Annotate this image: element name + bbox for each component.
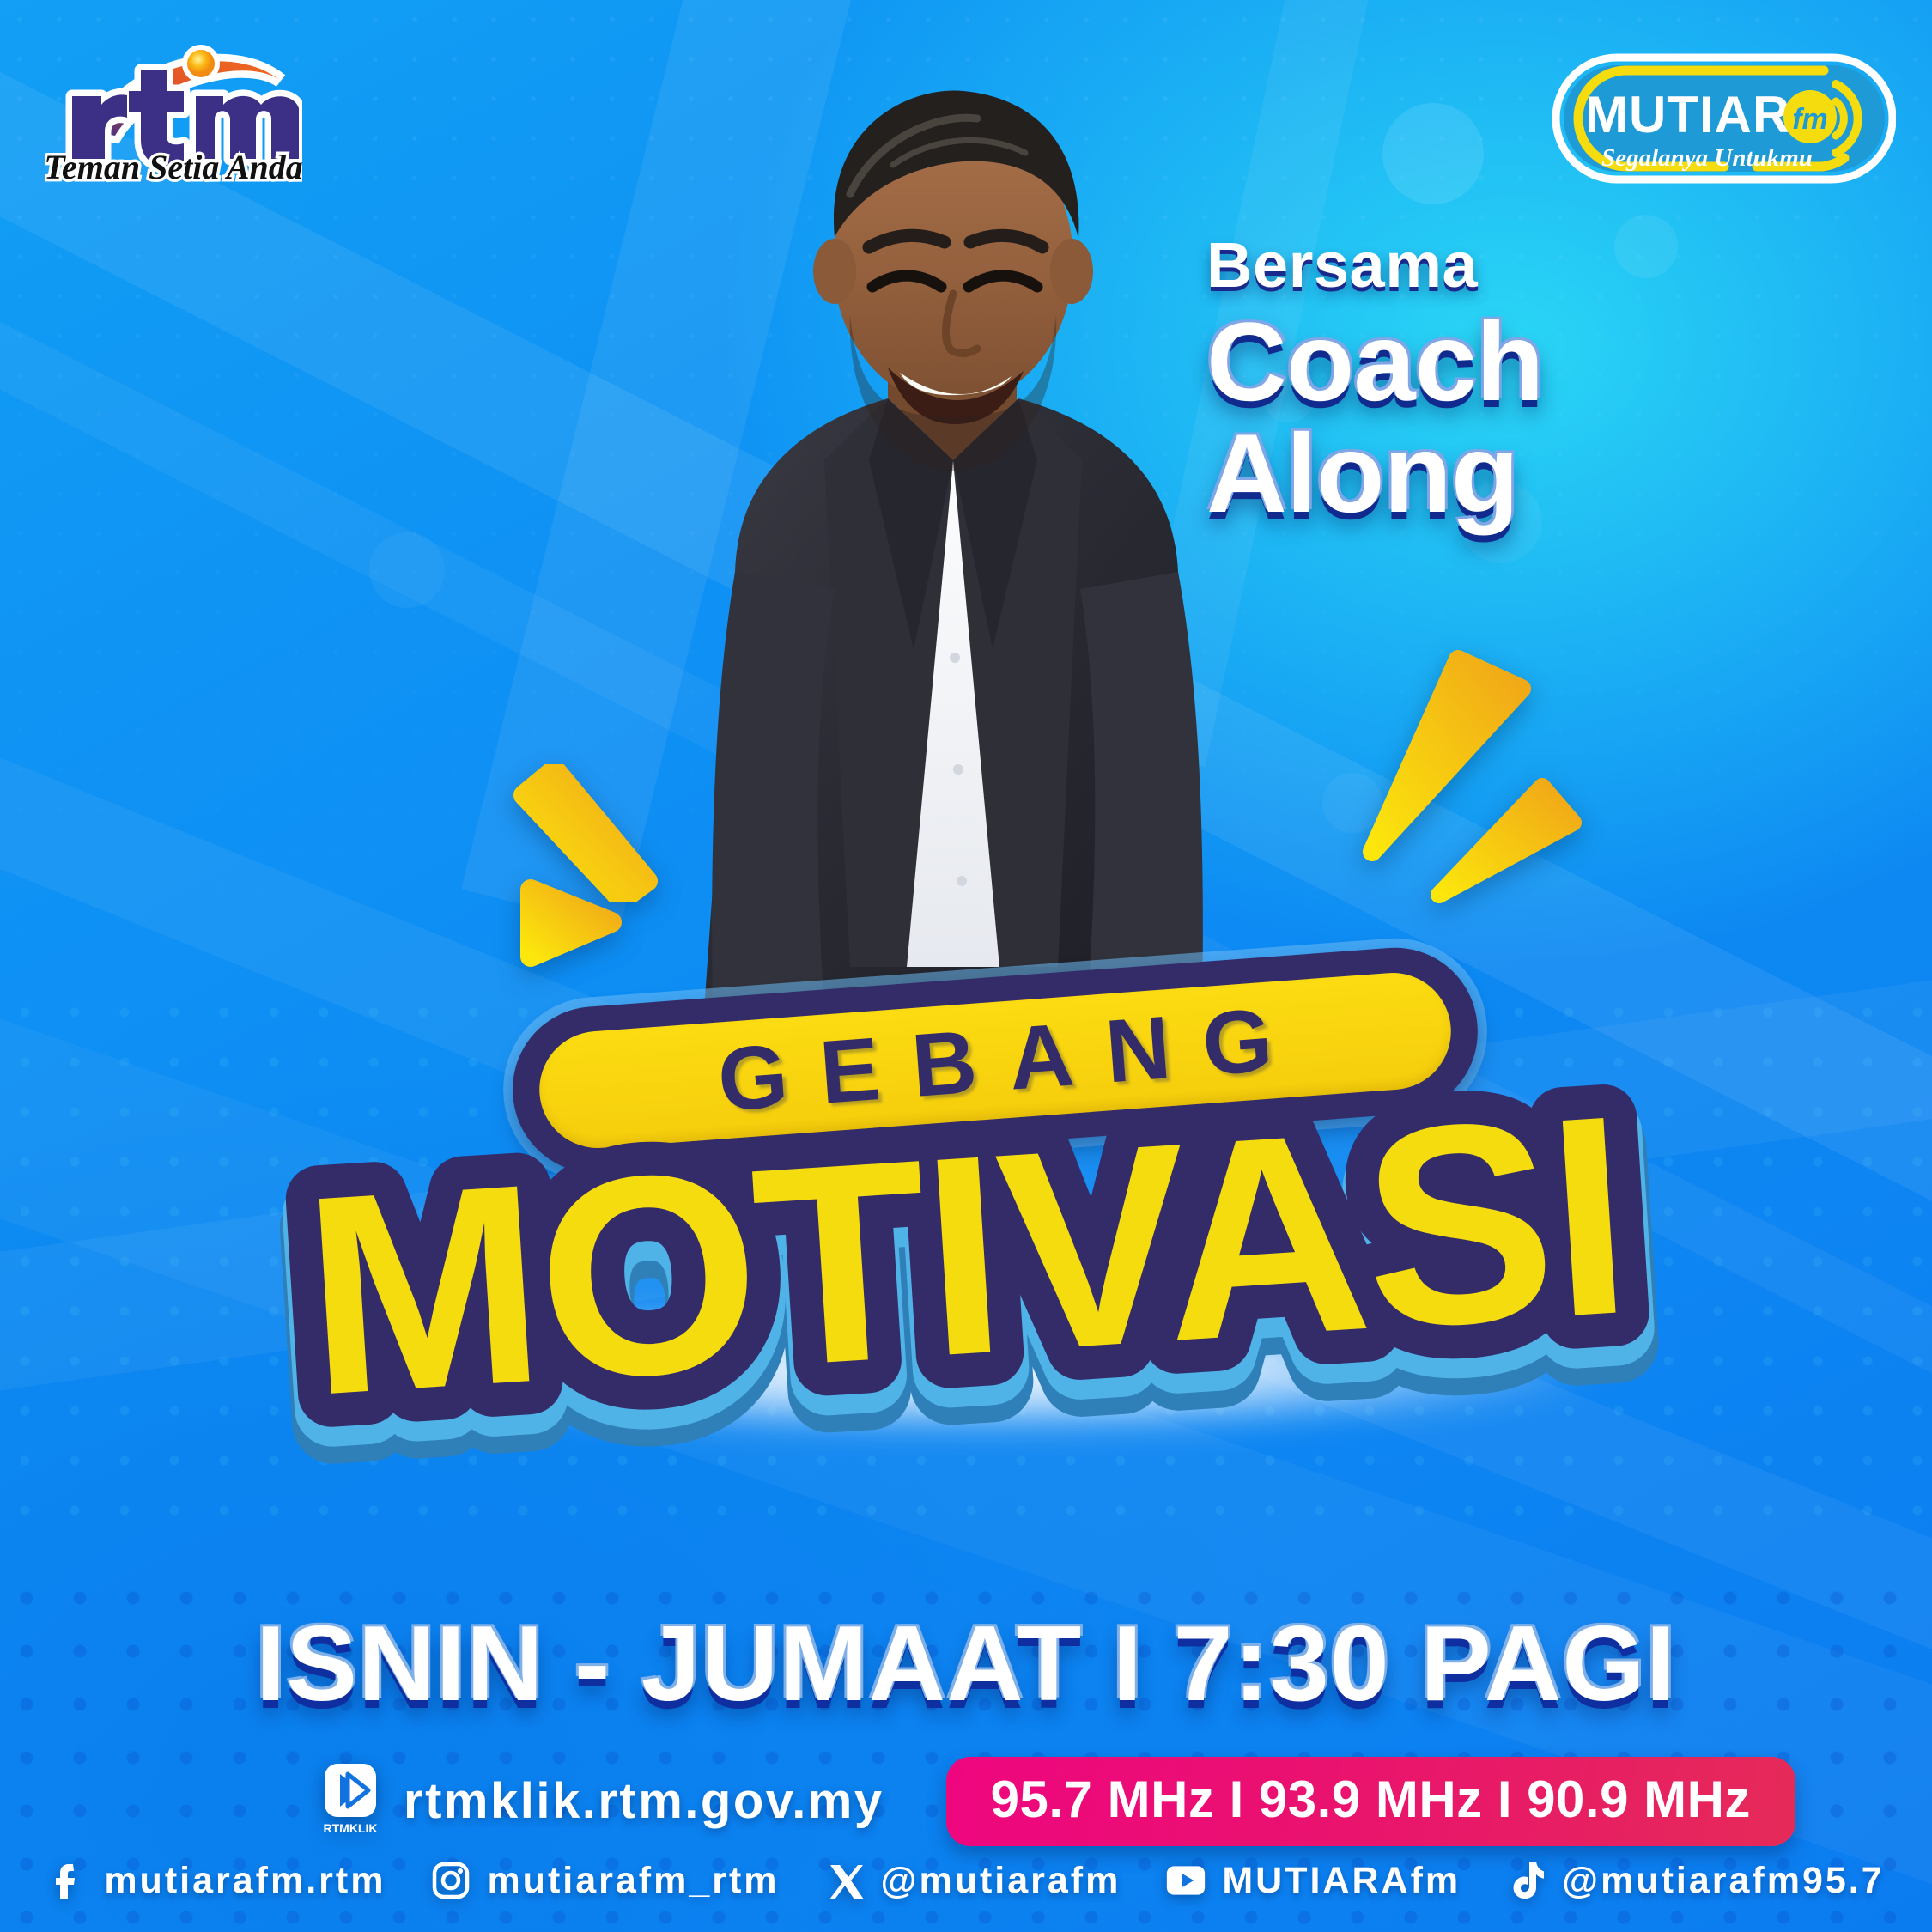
spark-accent-right-large bbox=[1357, 644, 1537, 867]
rtm-tagline: Teman Setia Anda bbox=[45, 148, 302, 185]
host-credit: Bersama Coach Along bbox=[1206, 234, 1842, 529]
host-name: Coach Along bbox=[1206, 306, 1842, 529]
social-item-instagram[interactable]: mutiarafm_rtm bbox=[430, 1858, 779, 1903]
fm-badge: fm bbox=[1792, 103, 1828, 136]
schedule-line: ISNIN - JUMAAT I 7:30 PAGI bbox=[0, 1611, 1932, 1717]
frequency-text: 95.7 MHz I 93.9 MHz I 90.9 MHz bbox=[991, 1771, 1751, 1828]
title-motivasi: MOTIVASI MOTIVASI MOTIVASI MOTIVASI bbox=[42, 1024, 1890, 1498]
mutiara-tagline: Segalanya Untukmu bbox=[1601, 144, 1813, 172]
social-handle: mutiarafm_rtm bbox=[487, 1862, 779, 1899]
social-item-tiktok[interactable]: @mutiarafm95.7 bbox=[1505, 1858, 1885, 1903]
social-item-x-twitter[interactable]: @mutiarafm bbox=[824, 1858, 1121, 1903]
youtube-icon bbox=[1165, 1858, 1206, 1903]
x-twitter-icon bbox=[824, 1858, 866, 1903]
rtmklik-label: RTMKLIK bbox=[324, 1821, 378, 1835]
facebook-icon bbox=[47, 1858, 88, 1903]
tiktok-icon bbox=[1505, 1858, 1546, 1903]
social-item-youtube[interactable]: MUTIARAfm bbox=[1165, 1858, 1461, 1903]
rtm-logo: Teman Setia Anda bbox=[45, 31, 302, 185]
bokeh-circle bbox=[1382, 103, 1484, 204]
social-item-facebook[interactable]: mutiarafm.rtm bbox=[47, 1858, 386, 1903]
bokeh-circle bbox=[369, 532, 445, 608]
mutiara-fm-logo: MUTIARA fm Segalanya Untukmu bbox=[1552, 53, 1896, 184]
social-handle: @mutiarafm95.7 bbox=[1562, 1862, 1885, 1899]
social-handle: @mutiarafm bbox=[881, 1862, 1121, 1899]
rtmklik-icon[interactable]: RTMKLIK bbox=[319, 1764, 381, 1839]
host-prefix-label: Bersama bbox=[1206, 234, 1842, 297]
social-footer: mutiarafm.rtm mutiarafm_rtm @mutiarafm bbox=[0, 1858, 1932, 1903]
social-handle: mutiarafm.rtm bbox=[104, 1862, 386, 1899]
website-url[interactable]: rtmklik.rtm.gov.my bbox=[404, 1777, 884, 1826]
social-handle: MUTIARAfm bbox=[1222, 1862, 1461, 1899]
promo-poster: Teman Setia Anda MUTIARA fm Segalanya Un… bbox=[0, 0, 1932, 1932]
frequency-badge: 95.7 MHz I 93.9 MHz I 90.9 MHz bbox=[946, 1757, 1795, 1846]
spark-accent-right-small bbox=[1425, 756, 1589, 910]
instagram-icon bbox=[430, 1858, 471, 1903]
broadcast-info-row: RTMKLIK rtmklik.rtm.gov.my 95.7 MHz I 93… bbox=[319, 1757, 1795, 1846]
